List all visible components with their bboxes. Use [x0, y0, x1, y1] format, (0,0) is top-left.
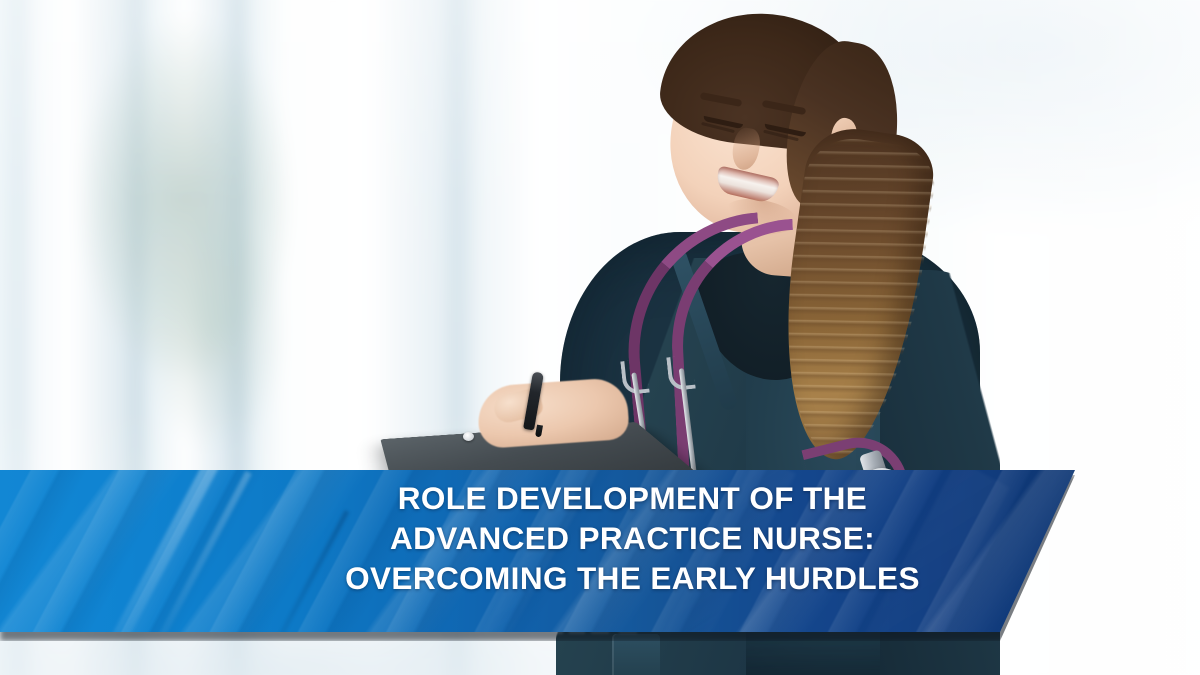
- title-banner: [0, 470, 1085, 636]
- banner-surface: [0, 470, 1085, 632]
- hero-banner-image: ROLE DEVELOPMENT OF THE ADVANCED PRACTIC…: [0, 0, 1200, 675]
- clipboard-rivet-left: [463, 432, 474, 441]
